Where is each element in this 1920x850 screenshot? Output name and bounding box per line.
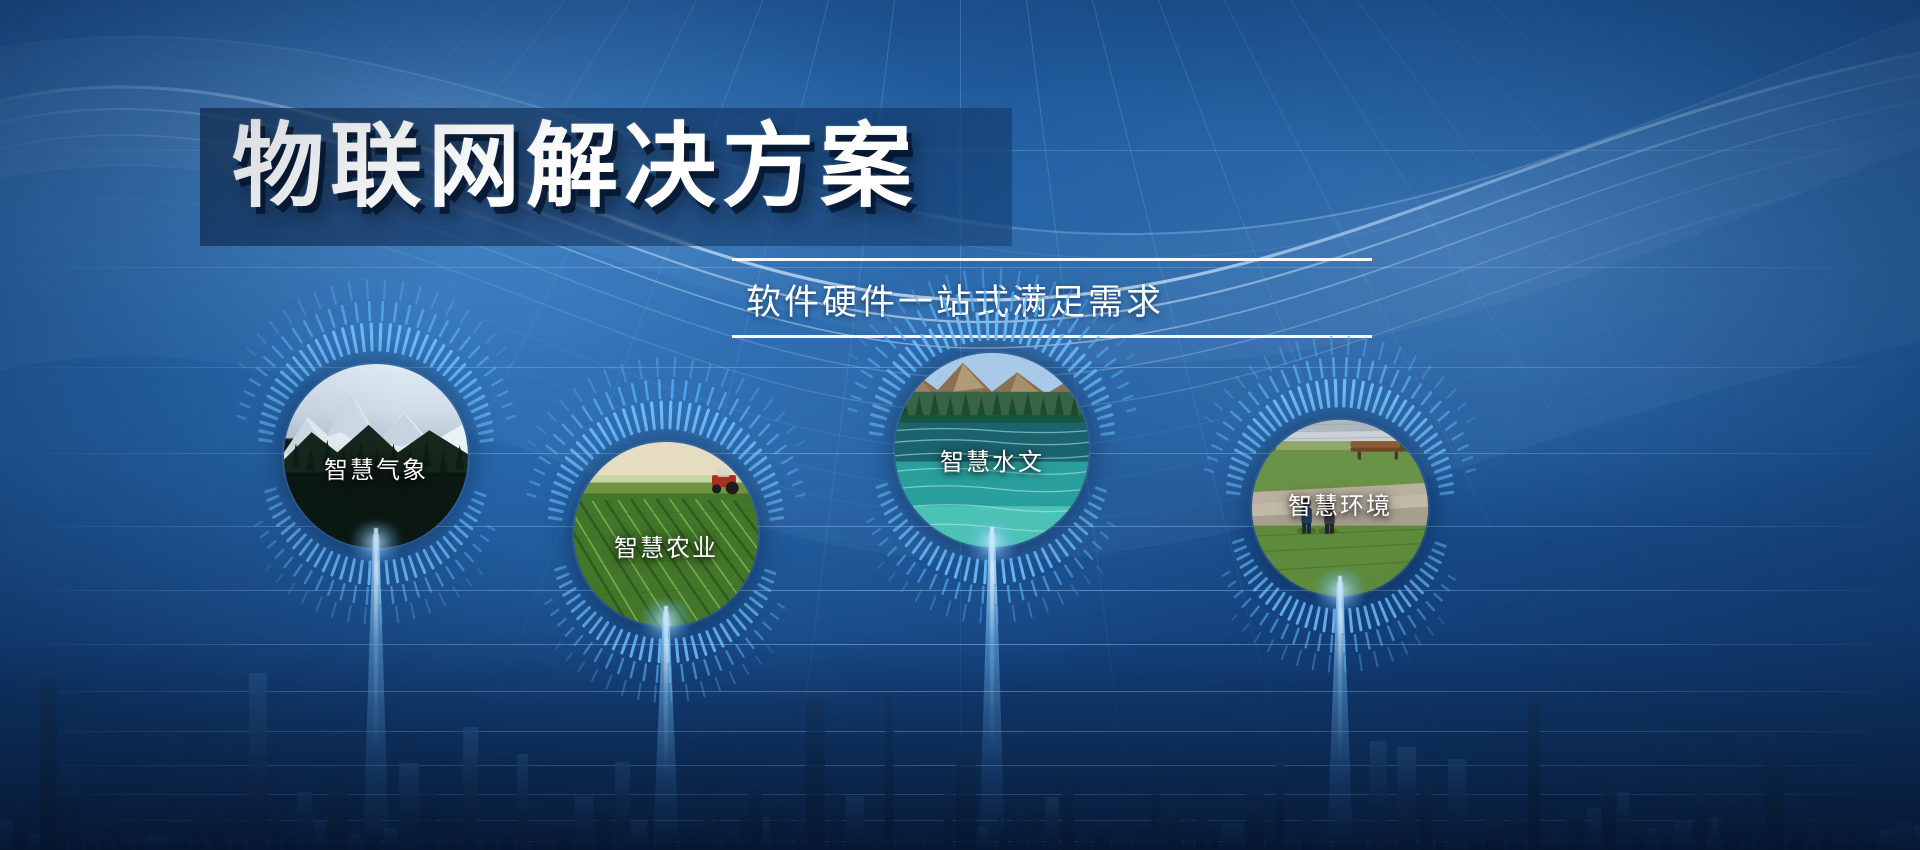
equalizer-bar	[703, 811, 713, 850]
subtitle-block: 软件硬件一站式满足需求	[732, 258, 1372, 338]
equalizer-bar	[1648, 828, 1657, 850]
equalizer-bar	[1094, 823, 1110, 850]
equalizer-bar	[596, 801, 612, 850]
beam-glow	[1310, 570, 1370, 612]
equalizer-bar	[1151, 779, 1159, 850]
equalizer-bar	[1674, 820, 1692, 850]
equalizer-bar	[1030, 801, 1041, 850]
subtitle-rule-bottom	[732, 335, 1372, 338]
equalizer-bar	[99, 821, 113, 850]
equalizer-bar	[1276, 761, 1284, 850]
equalizer-bar	[865, 834, 884, 850]
equalizer-bar	[1743, 818, 1752, 850]
equalizer-bar	[137, 820, 144, 850]
equalizer-bar	[1809, 829, 1816, 850]
radial-dashed-arc	[1168, 336, 1512, 680]
beam-glow	[962, 521, 1022, 563]
grid-line-vertical	[960, 0, 1920, 227]
equalizer-bar	[829, 792, 843, 850]
beam-glow	[346, 522, 406, 564]
grid-line-horizontal	[0, 453, 1920, 454]
equalizer-bar	[1484, 818, 1504, 850]
grid-line-vertical	[960, 0, 1732, 696]
equalizer-bar	[1301, 814, 1312, 850]
equalizer-bar	[1659, 826, 1672, 850]
equalizer-bar	[517, 754, 528, 850]
equalizer-bar	[681, 824, 702, 850]
equalizer-bar	[1112, 836, 1123, 850]
equalizer-bar	[420, 791, 437, 850]
equalizer-bar	[1695, 791, 1707, 850]
equalizer-bar	[1062, 781, 1074, 850]
page-title: 物联网解决方案	[232, 113, 918, 222]
node-label: 智慧环境	[1168, 486, 1512, 521]
equalizer-bar	[328, 786, 348, 850]
equalizer-bar	[1723, 799, 1741, 850]
scene-sky	[284, 364, 468, 548]
scene-people	[1297, 498, 1337, 534]
equalizer-bar	[352, 834, 359, 850]
node-photo[interactable]	[895, 353, 1089, 547]
equalizer-bar	[123, 838, 133, 850]
equalizer-bar	[1161, 806, 1182, 850]
equalizer-bar	[210, 811, 228, 850]
equalizer-bar	[763, 817, 769, 850]
equalizer-bar	[463, 727, 478, 850]
equalizer-bar	[740, 800, 747, 850]
equalizer-bar	[806, 699, 825, 850]
equalizer-bar	[147, 836, 166, 850]
equalizer-bar	[631, 821, 647, 850]
scene-ground	[1252, 420, 1428, 596]
equalizer-bar	[1448, 759, 1466, 850]
subtitle-rule-top	[732, 258, 1372, 261]
solution-node[interactable]: 智慧环境	[1168, 336, 1512, 680]
equalizer-bar	[1846, 818, 1862, 850]
equalizer-bar	[1134, 824, 1150, 850]
equalizer-bar	[40, 679, 57, 850]
equalizer-bar	[249, 673, 267, 850]
equalizer-bar	[998, 800, 1007, 850]
equalizer-bar	[297, 792, 312, 850]
solution-node[interactable]: 智慧气象	[197, 277, 555, 635]
equalizer-bar	[1788, 806, 1805, 850]
equalizer-bar	[748, 784, 762, 850]
equalizer-bar	[482, 834, 497, 850]
grid-line-vertical	[960, 0, 1920, 187]
equalizer-bar	[1078, 838, 1091, 850]
scene-tractor	[712, 468, 739, 495]
equalizer-bar	[1914, 825, 1920, 850]
scene-sky	[574, 442, 758, 626]
equalizer-bar	[1587, 808, 1601, 850]
equalizer-bar	[977, 827, 987, 850]
equalizer-bar	[1209, 824, 1218, 850]
equalizer-bar	[648, 807, 654, 850]
equalizer-bar	[1124, 830, 1132, 850]
page-subtitle: 软件硬件一站式满足需求	[732, 261, 1372, 335]
radial-dashed-arc	[197, 277, 555, 635]
equalizer-bar	[441, 809, 462, 850]
equalizer-bar	[1602, 774, 1615, 850]
equalizer-bar	[1185, 816, 1193, 850]
node-photo[interactable]	[574, 442, 758, 626]
grid-line-horizontal	[0, 590, 1920, 591]
equalizer-bar	[500, 828, 514, 850]
grid-line-vertical	[960, 0, 1920, 491]
equalizer-bar	[363, 809, 381, 850]
equalizer-bar	[29, 834, 39, 850]
equalizer-bar	[615, 762, 630, 850]
equalizer-bar	[1196, 810, 1207, 850]
equalizer-bar	[1246, 792, 1264, 850]
grid-line-horizontal	[0, 367, 1920, 368]
scene-field	[574, 442, 758, 626]
equalizer-bar	[1836, 823, 1844, 850]
equalizer-bar	[1820, 812, 1833, 850]
equalizer-bar	[956, 740, 976, 850]
equalizer-bar	[1766, 741, 1784, 850]
equalizer-bar	[1896, 823, 1912, 850]
scene-sky	[895, 353, 1089, 547]
equalizer-bar	[314, 820, 326, 850]
scene-park	[1252, 420, 1428, 596]
equalizer-bar	[925, 829, 943, 850]
grid-line-horizontal	[0, 526, 1920, 527]
equalizer-bar	[1711, 817, 1719, 850]
equalizer-bar	[1420, 780, 1433, 850]
equalizer-bar	[1617, 792, 1629, 850]
equalizer-bar	[1286, 832, 1297, 850]
equalizer-bar	[1754, 816, 1764, 850]
equalizer-bar	[908, 835, 923, 850]
equalizer-bar	[1222, 823, 1243, 850]
equalizer-bar	[724, 830, 739, 850]
grid-line-vertical	[189, 0, 961, 696]
equalizer-bar	[192, 810, 206, 850]
node-label: 智慧水文	[803, 442, 1181, 477]
equalizer-bar	[1354, 820, 1366, 850]
equalizer-bar	[1011, 807, 1028, 850]
equalizer-bar	[896, 826, 907, 850]
equalizer-bar	[58, 771, 67, 850]
equalizer-bar	[1564, 813, 1584, 850]
equalizer-bar	[988, 840, 995, 850]
equalizer-bar	[0, 821, 13, 850]
equalizer-bar	[1880, 829, 1895, 850]
node-photo[interactable]	[1252, 420, 1428, 596]
equalizer-bar	[1468, 824, 1482, 850]
equalizer-bar	[532, 821, 553, 850]
equalizer-bar	[1388, 830, 1395, 850]
equalizer-bar	[85, 815, 95, 850]
equalizer-bar	[70, 780, 82, 850]
equalizer-bar	[1508, 815, 1526, 850]
equalizer-bar	[1397, 747, 1416, 850]
equalizer-skyline	[0, 635, 1920, 850]
equalizer-bar	[771, 800, 791, 850]
grid-line-vertical	[960, 0, 1920, 271]
scene-lake	[895, 353, 1089, 547]
equalizer-bar	[1266, 819, 1275, 850]
grid-line-vertical	[960, 0, 1920, 429]
equalizer-bar	[846, 796, 864, 850]
equalizer-bar	[1334, 814, 1353, 850]
equalizer-bar	[1045, 797, 1059, 850]
node-label: 智慧农业	[487, 528, 845, 563]
scene-bench	[1351, 441, 1406, 459]
equalizer-bar	[232, 820, 245, 850]
equalizer-bar	[575, 796, 593, 850]
equalizer-bar	[115, 800, 122, 850]
equalizer-bar	[1436, 823, 1445, 850]
equalizer-bar	[555, 823, 573, 850]
equalizer-bar	[271, 806, 279, 850]
equalizer-bar	[656, 821, 677, 850]
equalizer-bar	[1542, 839, 1563, 850]
equalizer-bar	[14, 794, 28, 850]
equalizer-bar	[399, 763, 419, 850]
equalizer-bar	[1370, 741, 1387, 850]
node-photo[interactable]	[284, 364, 468, 548]
equalizer-bar	[1528, 696, 1540, 850]
equalizer-bar	[795, 818, 805, 850]
scene-mountains	[284, 364, 468, 548]
equalizer-bar	[282, 832, 295, 850]
equalizer-bar	[384, 828, 397, 850]
equalizer-bar	[944, 785, 953, 850]
equalizer-bar	[1866, 825, 1877, 850]
equalizer-bar	[169, 821, 190, 850]
equalizer-bar	[1630, 825, 1646, 850]
iot-solution-banner: 物联网解决方案 软件硬件一站式满足需求	[0, 0, 1920, 850]
equalizer-bar	[715, 802, 721, 850]
equalizer-bar	[1314, 839, 1330, 850]
node-label: 智慧气象	[197, 450, 555, 485]
equalizer-bar	[885, 696, 894, 850]
